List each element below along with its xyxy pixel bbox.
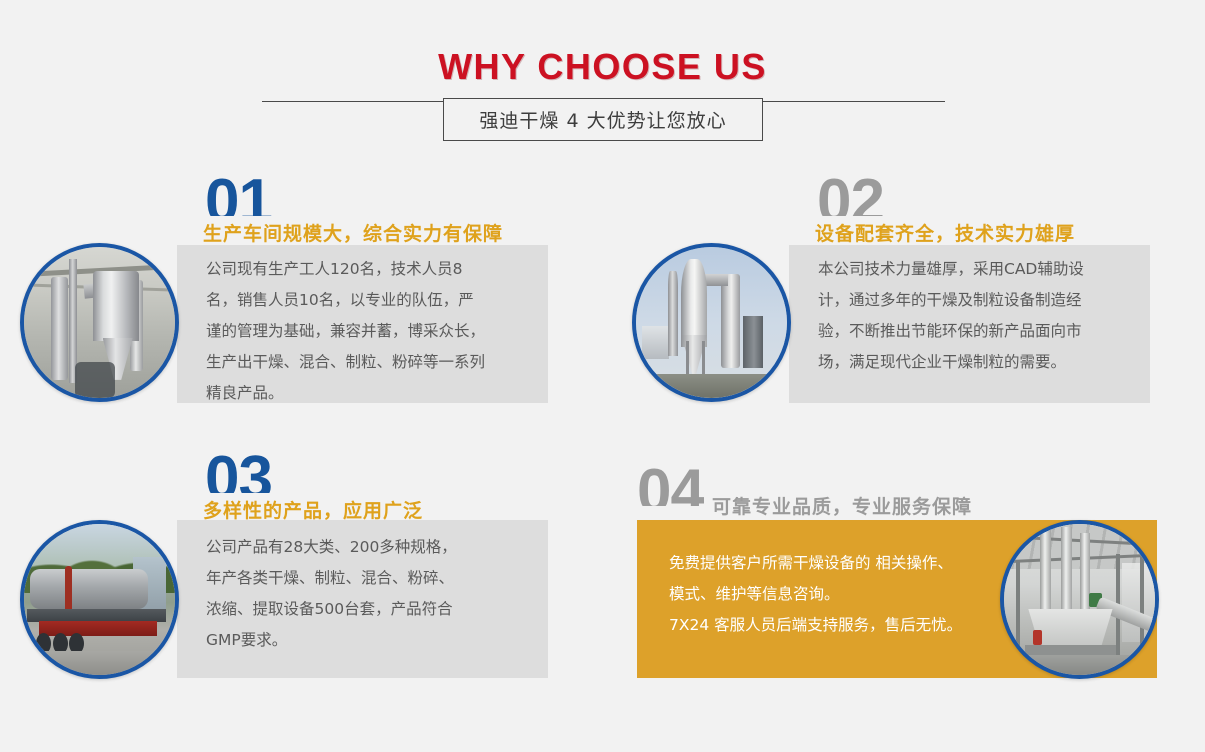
card-image-01 — [20, 243, 179, 402]
card-body-line: 计，通过多年的干燥及制粒设备制造经 — [818, 285, 1143, 316]
header-rule-left — [262, 101, 443, 102]
card-body-line: 精良产品。 — [206, 378, 536, 409]
card-body-line: 年产各类干燥、制粒、混合、粉碎、 — [206, 563, 536, 594]
card-body-line: 浓缩、提取设备500台套，产品符合 — [206, 594, 536, 625]
header-rule-right — [763, 101, 945, 102]
fluid-bed-dryer-workshop-photo — [1004, 524, 1155, 675]
card-number-03: 03 — [205, 455, 272, 493]
rotary-dryer-truck-photo — [24, 524, 175, 675]
card-title-03: 多样性的产品，应用广泛 — [203, 496, 423, 523]
subtitle-box: 强迪干燥 4 大优势让您放心 — [443, 98, 763, 141]
card-body-03: 公司产品有28大类、200多种规格， 年产各类干燥、制粒、混合、粉碎、 浓缩、提… — [206, 532, 536, 656]
card-image-02 — [632, 243, 791, 402]
card-title-04: 可靠专业品质，专业服务保障 — [712, 492, 972, 519]
card-body-line: 名，销售人员10名，以专业的队伍，严 — [206, 285, 536, 316]
card-number-04: 04 — [637, 468, 704, 506]
card-body-line: 公司产品有28大类、200多种规格， — [206, 532, 536, 563]
card-body-line: 验，不断推出节能环保的新产品面向市 — [818, 316, 1143, 347]
why-choose-us-section: WHY CHOOSE US 强迪干燥 4 大优势让您放心 01 生产车间规模大，… — [0, 0, 1205, 752]
card-body-line: 谨的管理为基础，兼容并蓄，博采众长， — [206, 316, 536, 347]
page-title: WHY CHOOSE US — [0, 46, 1205, 88]
card-body-line: 本公司技术力量雄厚，采用CAD辅助设 — [818, 254, 1143, 285]
card-number-01: 01 — [205, 178, 272, 216]
flash-dryer-outdoor-photo — [636, 247, 787, 398]
card-body-02: 本公司技术力量雄厚，采用CAD辅助设 计，通过多年的干燥及制粒设备制造经 验，不… — [818, 254, 1143, 378]
card-body-line: 公司现有生产工人120名，技术人员8 — [206, 254, 536, 285]
card-image-04 — [1000, 520, 1159, 679]
page-subtitle: 强迪干燥 4 大优势让您放心 — [479, 106, 726, 133]
card-title-02: 设备配套齐全，技术实力雄厚 — [815, 219, 1075, 246]
card-body-line: GMP要求。 — [206, 625, 536, 656]
card-title-01: 生产车间规模大，综合实力有保障 — [203, 219, 503, 246]
card-body-01: 公司现有生产工人120名，技术人员8 名，销售人员10名，以专业的队伍，严 谨的… — [206, 254, 536, 409]
card-image-03 — [20, 520, 179, 679]
card-body-line: 生产出干燥、混合、制粒、粉碎等一系列 — [206, 347, 536, 378]
card-number-02: 02 — [817, 178, 884, 216]
card-body-line: 场，满足现代企业干燥制粒的需要。 — [818, 347, 1143, 378]
spray-dryer-factory-photo — [24, 247, 175, 398]
